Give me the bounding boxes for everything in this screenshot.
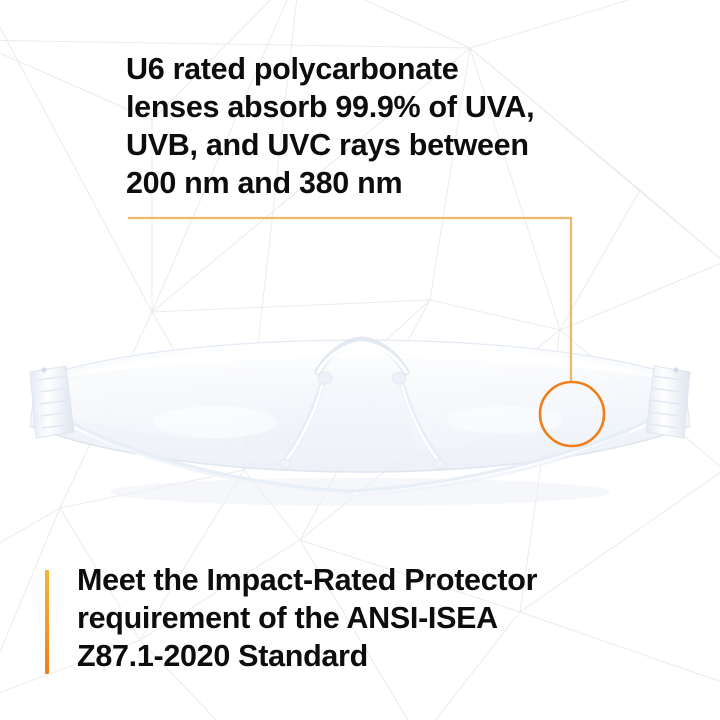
- nose-bridge-highlight: [318, 343, 406, 372]
- callout-bottom-line-3: Z87.1-2020 Standard: [77, 637, 637, 675]
- callout-top-line-3: UVB, and UVC rays between: [126, 126, 626, 164]
- hinge-left-group: [30, 366, 74, 438]
- hinge-right-rib-5: [648, 424, 678, 428]
- leader-line-icon: [128, 218, 571, 381]
- temple-arm-sweep-highlight: [64, 422, 652, 494]
- callout-top-line-1: U6 rated polycarbonate: [126, 50, 626, 88]
- callout-bottom-line-2: requirement of the ANSI-ISEA: [77, 599, 637, 637]
- hinge-right-group: [646, 366, 690, 438]
- hinge-left: [30, 366, 74, 438]
- nose-pad-right: [392, 372, 406, 384]
- nose-pad-arm-right: [402, 384, 440, 462]
- temple-arm-left: [88, 432, 352, 494]
- product-shadow: [110, 478, 610, 506]
- lens-group: [30, 340, 690, 472]
- temple-arm-sweep: [64, 420, 652, 492]
- hinge-left-rib-2: [39, 388, 69, 392]
- callout-bottom-line-1: Meet the Impact-Rated Protector: [77, 561, 637, 599]
- hinge-right-rib-2: [651, 388, 681, 392]
- lens: [30, 340, 690, 472]
- hinge-left-rib-1: [38, 376, 68, 380]
- hinge-left-rib-5: [42, 424, 72, 428]
- callout-top-line-2: lenses absorb 99.9% of UVA,: [126, 88, 626, 126]
- nose-pad-arm-right-highlight: [402, 386, 437, 459]
- nose-bridge-group: [280, 340, 445, 469]
- nose-pad-arm-left-highlight: [287, 386, 322, 459]
- lens-reflection-right: [447, 406, 563, 434]
- highlight-circle-icon: [540, 382, 604, 446]
- lens-sheen-left: [46, 361, 330, 450]
- temple-arm-right: [360, 432, 628, 494]
- hinge-right-rib-4: [649, 412, 679, 416]
- lens-reflection-left: [153, 406, 277, 438]
- hinge-right-rib-1: [652, 376, 682, 380]
- hinge-right-pin: [673, 367, 678, 372]
- callout-bottom-text: Meet the Impact-Rated Protector requirem…: [77, 561, 637, 675]
- lens-top-highlight: [48, 346, 672, 380]
- nose-pad-tip-left: [280, 460, 291, 469]
- hinge-left-rib-4: [41, 412, 71, 416]
- lens-bottom-edge: [30, 426, 690, 472]
- callout-top-line-4: 200 nm and 380 nm: [126, 164, 626, 202]
- hinge-right: [646, 366, 690, 438]
- hinge-left-rib-3: [40, 400, 70, 404]
- nose-pad-tip-right: [434, 460, 445, 469]
- vertical-accent-bar-icon: [45, 570, 49, 674]
- nose-pad-arm-left: [284, 384, 322, 462]
- product-infographic: U6 rated polycarbonate lenses absorb 99.…: [0, 0, 720, 720]
- hinge-right-rib-3: [650, 400, 680, 404]
- temple-arms-group: [64, 420, 652, 494]
- nose-bridge: [318, 340, 406, 372]
- lens-sheen-right: [392, 361, 672, 450]
- callout-top-text: U6 rated polycarbonate lenses absorb 99.…: [126, 50, 626, 202]
- safety-glasses-product-image: [0, 300, 720, 530]
- nose-pad-left: [318, 372, 332, 384]
- hinge-left-pin: [41, 367, 46, 372]
